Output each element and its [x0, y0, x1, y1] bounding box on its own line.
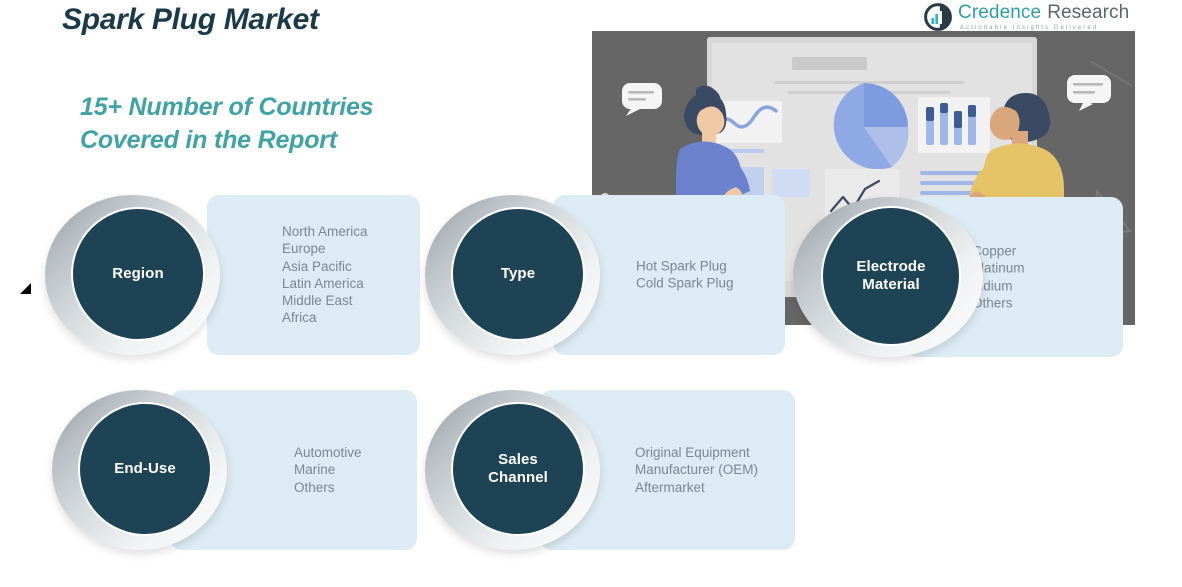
- segment-circle-label[interactable]: Sales Channel: [451, 402, 585, 536]
- brand-logo: Credence Research Actionable Insights De…: [924, 2, 1129, 31]
- segment-circle-label[interactable]: Electrode Material: [821, 206, 961, 346]
- segment-card-sales-channel: Original Equipment Manufacturer (OEM) Af…: [425, 390, 795, 550]
- segment-circle-label[interactable]: Type: [451, 207, 585, 341]
- segment-panel: North America Europe Asia Pacific Latin …: [207, 195, 420, 355]
- segment-items: Original Equipment Manufacturer (OEM) Af…: [635, 444, 758, 496]
- brand-word-research: Research: [1047, 2, 1129, 24]
- infographic-page: Spark Plug Market 15+ Number of Countrie…: [0, 0, 1182, 587]
- brand-word-credence: Credence: [958, 2, 1041, 24]
- bar-chart-circle-icon: [924, 3, 952, 31]
- segment-items: Hot Spark Plug Cold Spark Plug: [636, 258, 734, 293]
- brand-text: Credence Research Actionable Insights De…: [958, 2, 1129, 31]
- page-title: Spark Plug Market: [62, 3, 319, 37]
- segment-card-end-use: Automotive Marine Others End-Use: [52, 390, 417, 550]
- segment-card-region: North America Europe Asia Pacific Latin …: [45, 195, 420, 355]
- segment-circle-label[interactable]: End-Use: [78, 402, 212, 536]
- segment-card-electrode-material: Copper Platinum Iridium Others Electrode…: [793, 197, 1123, 357]
- segment-items: Automotive Marine Others: [294, 444, 362, 496]
- segment-card-type: Hot Spark Plug Cold Spark Plug Type: [425, 195, 785, 355]
- left-triangle-marker: [20, 283, 31, 294]
- segment-items: North America Europe Asia Pacific Latin …: [282, 223, 368, 327]
- segment-circle-label[interactable]: Region: [71, 207, 205, 341]
- brand-words: Credence Research: [958, 2, 1129, 24]
- page-subtitle: 15+ Number of Countries Covered in the R…: [80, 91, 373, 157]
